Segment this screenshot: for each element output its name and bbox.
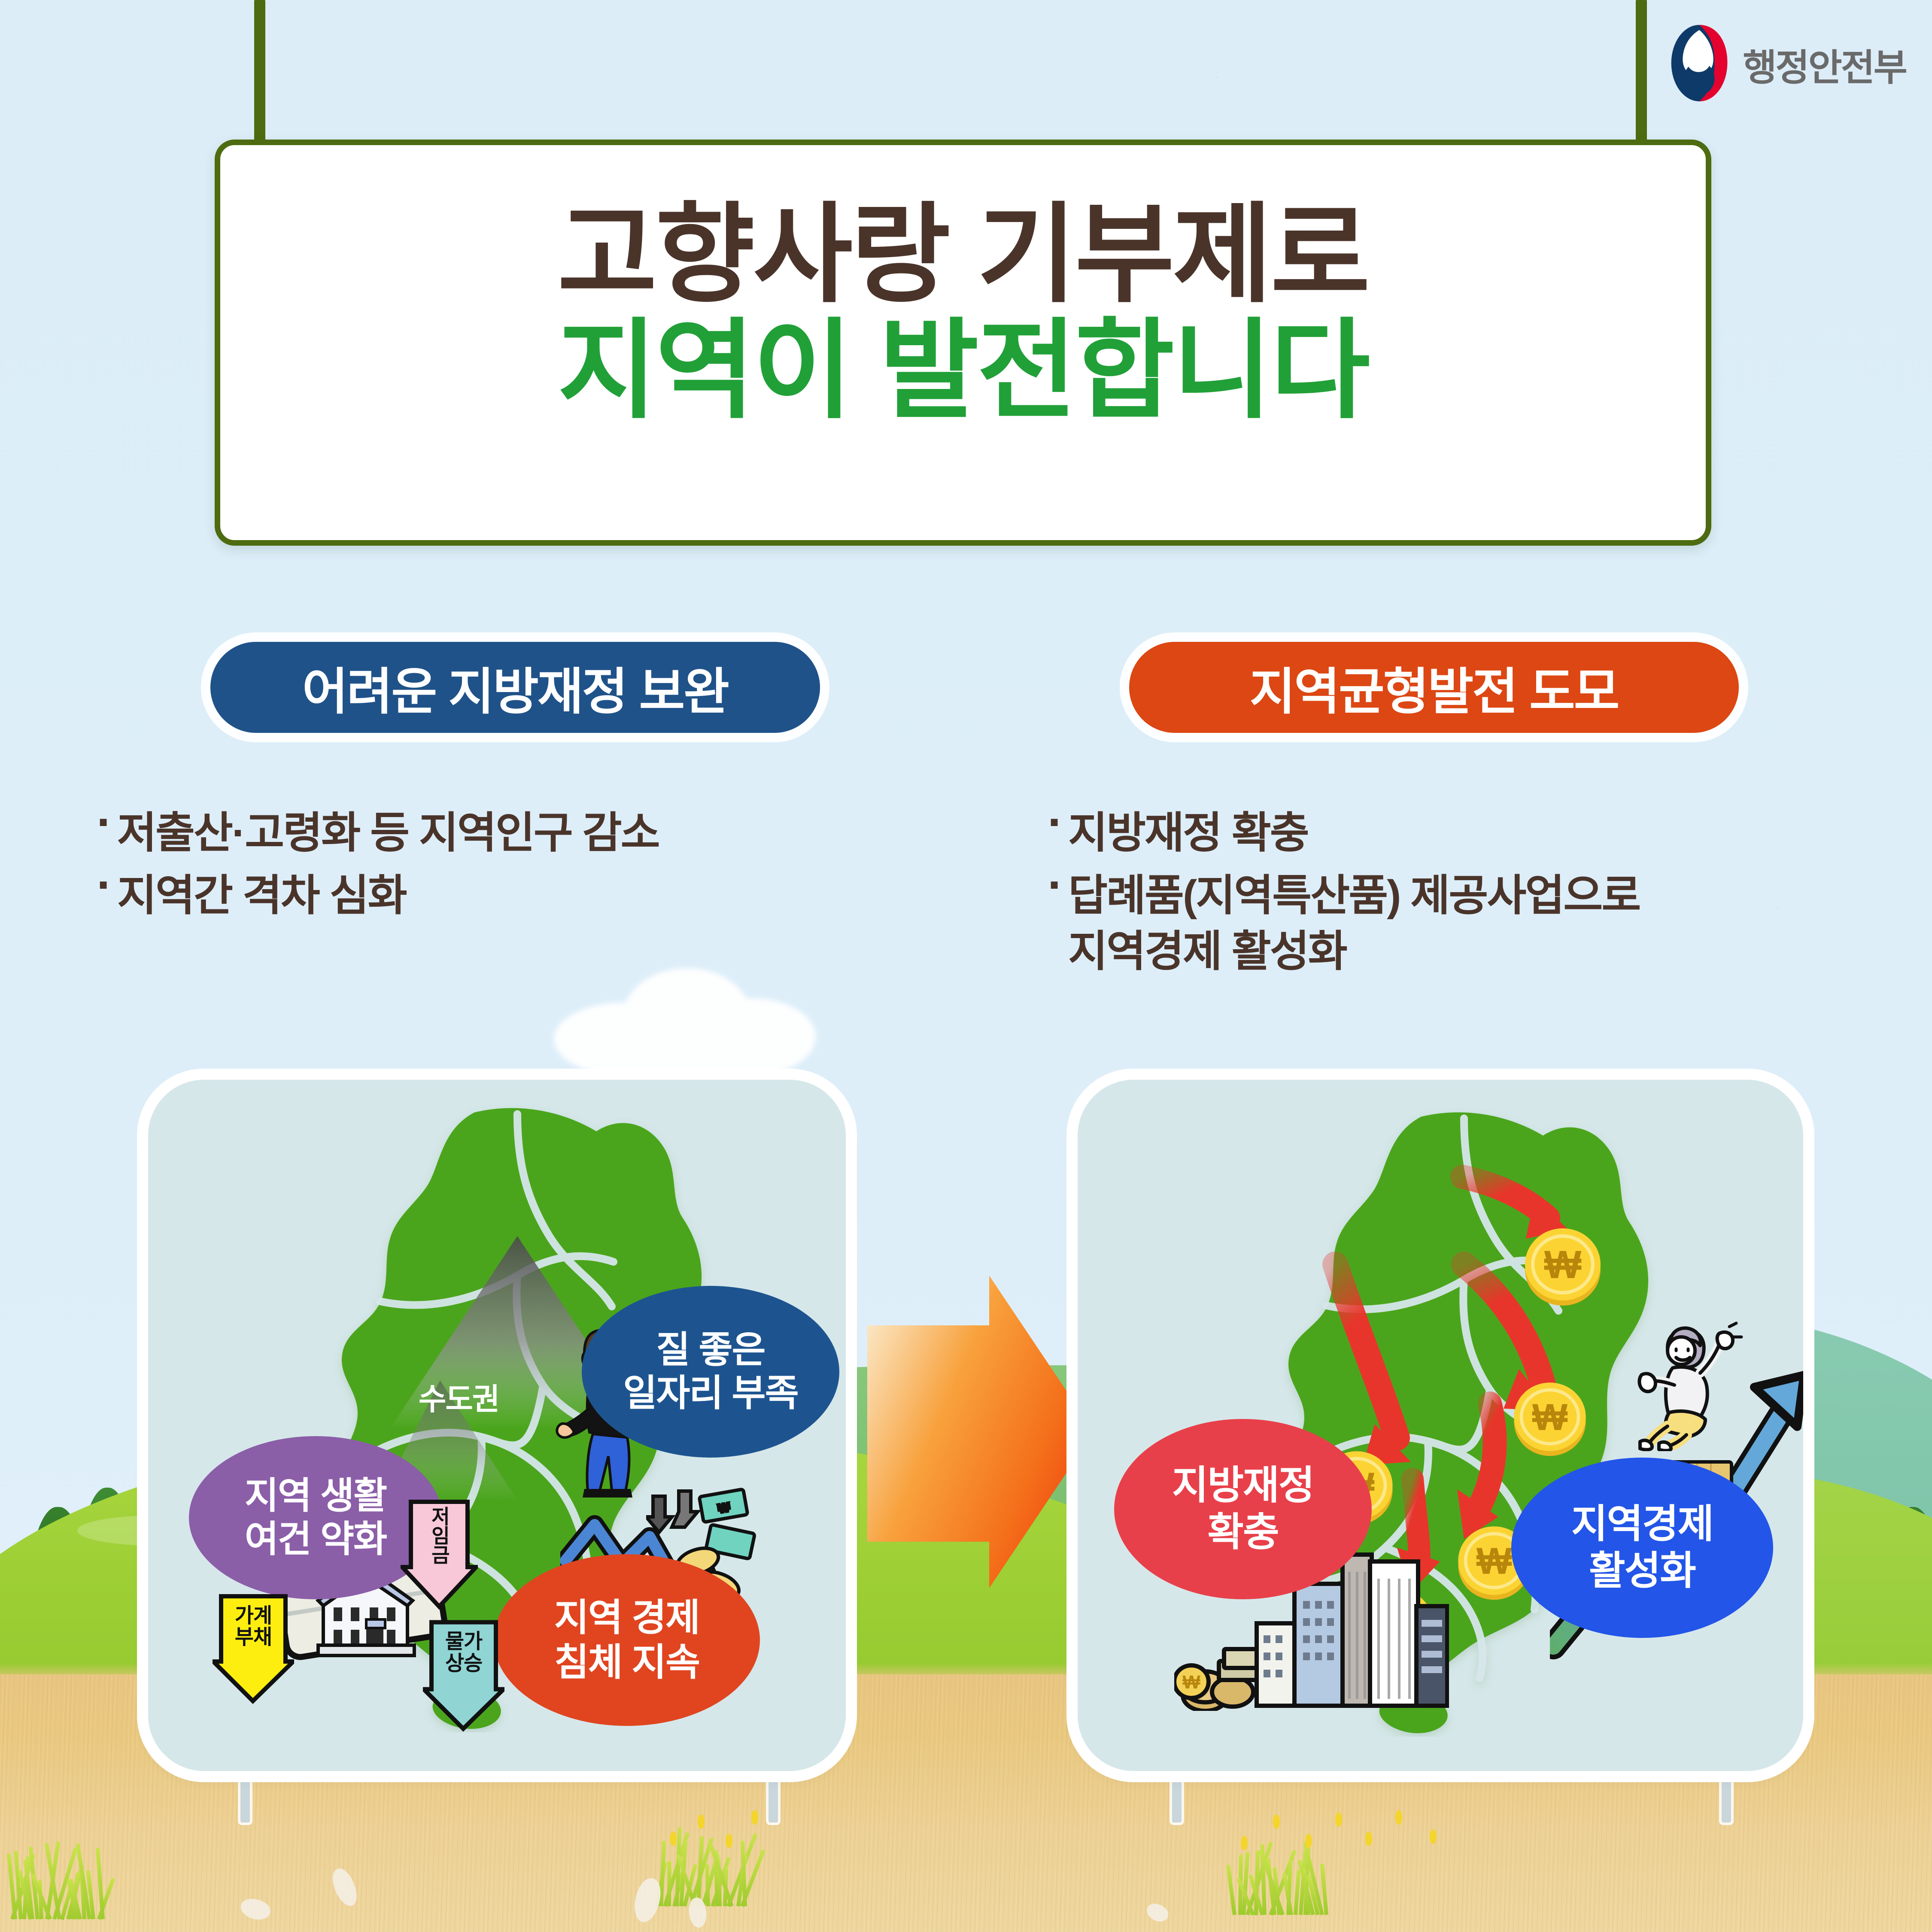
callout-local-finance: 지방재정 확충 (1114, 1419, 1372, 1599)
list-item: 지역간 격차 심화 (92, 868, 981, 923)
right-arrow-icon (867, 1269, 1095, 1595)
won-coin-icon: ₩ (1520, 1221, 1606, 1307)
main-banner: 고향사랑 기부제로 지역이 발전합니다 (215, 140, 1711, 546)
bullet-list-right: 지방재정 확충 답례품(지역특산품) 제공사업으로 지역경제 활성화 (1043, 805, 1928, 986)
bullet-text: 지방재정 확충 (1068, 809, 1308, 857)
svg-text:₩: ₩ (1476, 1540, 1512, 1582)
seed-icon (1395, 1810, 1402, 1825)
banner-title-line2: 지역이 발전합니다 (220, 317, 1706, 425)
callout-jobs: 질 좋은 일자리 부족 (582, 1286, 839, 1458)
section-pill-right-label: 지역균형발전 도모 (1250, 651, 1619, 723)
ministry-logo: 행정안전부 (1667, 22, 1906, 106)
callout-local-economy: 지역경제 활성화 (1511, 1458, 1773, 1638)
ministry-name-label: 행정안전부 (1743, 37, 1906, 91)
banner-title-line1: 고향사랑 기부제로 (220, 201, 1706, 309)
illustration-panel-right: ₩ ₩ ₩ ₩ ₩ (1078, 1080, 1803, 1771)
bullet-list-left: 저출산·고령화 등 지역인구 감소 지역간 격차 심화 (92, 805, 981, 930)
section-pill-right: 지역균형발전 도모 (1129, 642, 1739, 733)
cloud-icon (545, 951, 829, 1080)
seed-icon (1430, 1829, 1437, 1844)
bullet-text: 저출산·고령화 등 지역인구 감소 (117, 809, 659, 857)
capital-region-label: 수도권 (419, 1375, 499, 1419)
bullet-text: 답례품(지역특산품) 제공사업으로 (1068, 872, 1640, 920)
section-pill-left-label: 어려운 지방재정 보완 (302, 651, 728, 723)
seed-icon (1273, 1814, 1280, 1829)
seed-icon (1305, 1834, 1312, 1848)
callout-local-finance-line2: 확충 (1172, 1509, 1314, 1556)
grass-tuft-icon (653, 1825, 751, 1906)
list-item: 지방재정 확충 (1043, 805, 1928, 861)
seed-icon (726, 1834, 732, 1848)
seed-icon (1365, 1832, 1372, 1846)
seed-icon (751, 1810, 758, 1825)
list-item: 저출산·고령화 등 지역인구 감소 (92, 805, 981, 861)
tag-arrow-low-wage-label: 저임금 (429, 1506, 450, 1564)
infographic-canvas: 고향사랑 기부제로 지역이 발전합니다 행정안전부 어 (0, 0, 1932, 1932)
svg-text:₩: ₩ (1544, 1243, 1582, 1287)
callout-living-line1: 지역 생활 (245, 1474, 386, 1518)
seed-icon (1335, 1812, 1342, 1827)
callout-local-economy-line2: 활성화 (1571, 1548, 1713, 1595)
tag-arrow-price-rise: 물가상승 (423, 1619, 504, 1732)
tag-arrow-household-debt-label: 가계부채 (235, 1605, 272, 1649)
callout-recession-line1: 지역 경제 (554, 1595, 699, 1640)
bullet-text-wrap: 지역경제 활성화 (1068, 923, 1928, 979)
seed-icon (670, 1832, 677, 1846)
tag-arrow-low-wage: 저임금 (401, 1498, 478, 1610)
celebrating-person-icon (1623, 1318, 1752, 1451)
svg-text:₩: ₩ (1182, 1672, 1200, 1693)
tag-arrow-price-rise-label: 물가상승 (445, 1631, 482, 1675)
seed-icon (1241, 1836, 1248, 1850)
callout-recession-line2: 침체 지속 (554, 1640, 699, 1685)
tag-arrow-household-debt: 가계부채 (213, 1593, 294, 1704)
callout-jobs-line1: 질 좋은 (623, 1328, 798, 1372)
callout-local-economy-line1: 지역경제 (1571, 1501, 1713, 1548)
callout-local-finance-line1: 지방재정 (1172, 1462, 1314, 1509)
taegeuk-emblem-icon (1667, 22, 1732, 106)
section-pill-left: 어려운 지방재정 보완 (210, 642, 820, 733)
list-item: 답례품(지역특산품) 제공사업으로 지역경제 활성화 (1043, 868, 1928, 979)
callout-recession: 지역 경제 침체 지속 (494, 1554, 760, 1726)
bullet-text: 지역간 격차 심화 (117, 872, 406, 920)
seed-icon (698, 1814, 705, 1829)
callout-jobs-line2: 일자리 부족 (623, 1372, 798, 1415)
callout-living-line2: 여건 약화 (245, 1518, 386, 1561)
grass-tuft-icon (9, 1838, 107, 1919)
illustration-panel-left: 수도권 🏦 (148, 1080, 846, 1771)
